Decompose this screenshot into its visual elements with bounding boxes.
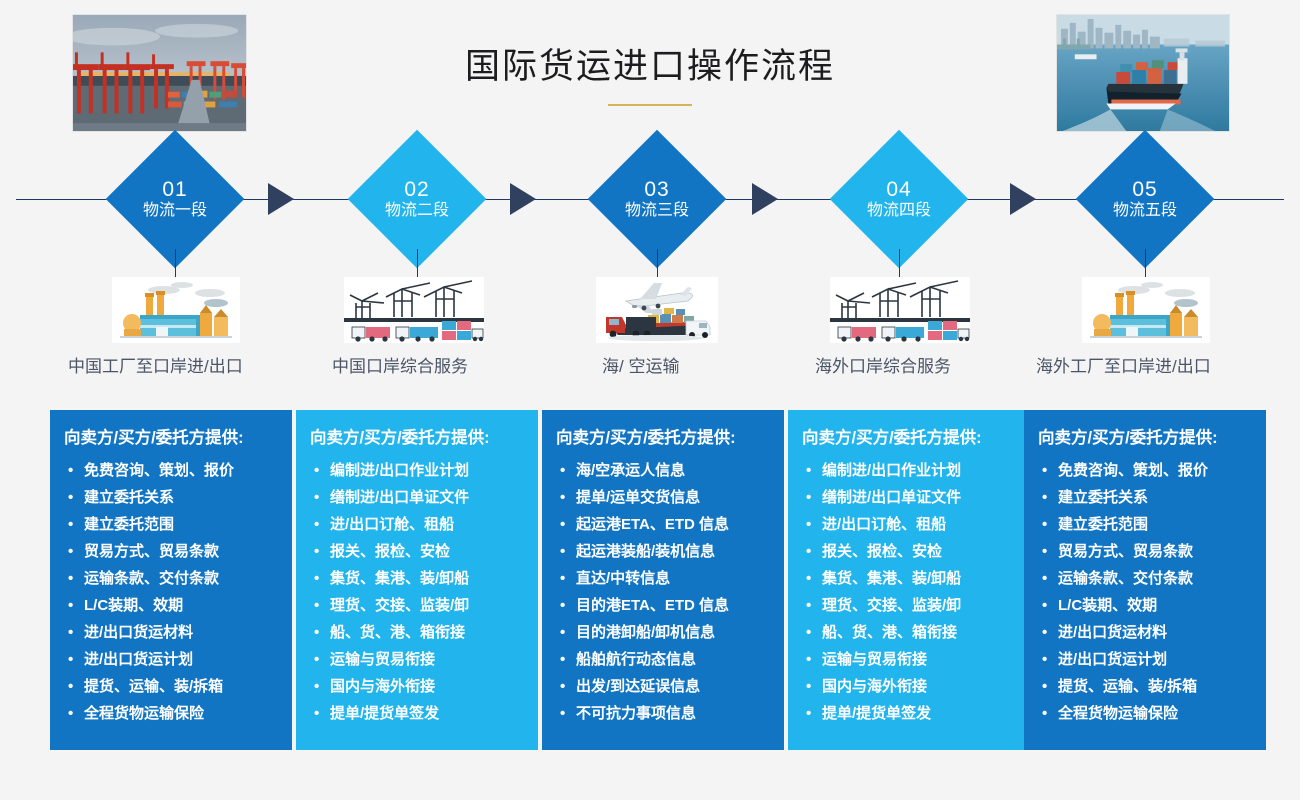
panel-title-03: 向卖方/买方/委托方提供: <box>556 424 774 448</box>
flow-arrow-2 <box>510 183 536 215</box>
list-item: 建立委托关系 <box>64 484 282 511</box>
stage-stem-05 <box>1145 249 1146 279</box>
list-item: 理货、交接、监装/卸 <box>802 592 1020 619</box>
list-item: 直达/中转信息 <box>556 565 774 592</box>
stage-panel-04: 向卖方/买方/委托方提供: 编制进/出口作业计划 缮制进/出口单证文件 进/出口… <box>788 410 1030 750</box>
list-item: 编制进/出口作业计划 <box>802 457 1020 484</box>
list-item: 运输与贸易衔接 <box>310 646 528 673</box>
list-item: 提货、运输、装/拆箱 <box>1038 673 1256 700</box>
list-item: 国内与海外衔接 <box>310 673 528 700</box>
list-item: 理货、交接、监装/卸 <box>310 592 528 619</box>
list-item: 提货、运输、装/拆箱 <box>64 673 282 700</box>
list-item: 海/空承运人信息 <box>556 457 774 484</box>
list-item: 提单/提货单签发 <box>802 700 1020 727</box>
list-item: 进/出口货运计划 <box>1038 646 1256 673</box>
list-item: 报关、报检、安检 <box>310 538 528 565</box>
list-item: 国内与海外衔接 <box>802 673 1020 700</box>
list-item: 运输条款、交付条款 <box>1038 565 1256 592</box>
stage-diamond-label-05: 05 物流五段 <box>1070 178 1220 221</box>
list-item: 全程货物运输保险 <box>64 700 282 727</box>
port-crane-truck-icon <box>344 277 484 343</box>
title-underline <box>608 104 692 106</box>
stage-caption-04: 海外口岸综合服务 <box>815 352 951 378</box>
stage-number-05: 05 <box>1070 178 1220 202</box>
panel-title-02: 向卖方/买方/委托方提供: <box>310 424 528 448</box>
factory-icon <box>1082 277 1210 343</box>
list-item: 进/出口货运材料 <box>1038 619 1256 646</box>
factory-icon <box>112 277 240 343</box>
flow-arrow-1 <box>268 183 294 215</box>
list-item: 贸易方式、贸易条款 <box>64 538 282 565</box>
list-item: 进/出口订舱、租船 <box>310 511 528 538</box>
stage-panel-01: 向卖方/买方/委托方提供: 免费咨询、策划、报价 建立委托关系 建立委托范围 贸… <box>50 410 292 750</box>
plane-truck-ship-icon <box>596 277 718 343</box>
stage-name-03: 物流三段 <box>582 202 732 220</box>
list-item: 免费咨询、策划、报价 <box>1038 457 1256 484</box>
list-item: 目的港ETA、ETD 信息 <box>556 592 774 619</box>
page-title: 国际货运进口操作流程 <box>0 38 1300 89</box>
list-item: 缮制进/出口单证文件 <box>802 484 1020 511</box>
list-item: 目的港卸船/卸机信息 <box>556 619 774 646</box>
stage-caption-05: 海外工厂至口岸进/出口 <box>1036 352 1211 378</box>
stage-diamond-label-02: 02 物流二段 <box>342 178 492 221</box>
list-item: 出发/到达延误信息 <box>556 673 774 700</box>
stage-panel-03: 向卖方/买方/委托方提供: 海/空承运人信息 提单/运单交货信息 起运港ETA、… <box>542 410 784 750</box>
list-item: 起运港装船/装机信息 <box>556 538 774 565</box>
panel-list-01: 免费咨询、策划、报价 建立委托关系 建立委托范围 贸易方式、贸易条款 运输条款、… <box>64 457 282 727</box>
panel-list-02: 编制进/出口作业计划 缮制进/出口单证文件 进/出口订舱、租船 报关、报检、安检… <box>310 457 528 727</box>
list-item: 船、货、港、箱衔接 <box>802 619 1020 646</box>
stage-number-04: 04 <box>824 178 974 202</box>
list-item: 提单/提货单签发 <box>310 700 528 727</box>
stage-stem-03 <box>657 249 658 279</box>
flow-arrow-3 <box>752 183 778 215</box>
stage-number-03: 03 <box>582 178 732 202</box>
list-item: 起运港ETA、ETD 信息 <box>556 511 774 538</box>
stage-name-05: 物流五段 <box>1070 202 1220 220</box>
list-item: 编制进/出口作业计划 <box>310 457 528 484</box>
list-item: 报关、报检、安检 <box>802 538 1020 565</box>
stage-number-01: 01 <box>100 178 250 202</box>
list-item: 运输条款、交付条款 <box>64 565 282 592</box>
stage-diamond-label-04: 04 物流四段 <box>824 178 974 221</box>
list-item: 提单/运单交货信息 <box>556 484 774 511</box>
stage-name-01: 物流一段 <box>100 202 250 220</box>
list-item: 缮制进/出口单证文件 <box>310 484 528 511</box>
stage-panel-02: 向卖方/买方/委托方提供: 编制进/出口作业计划 缮制进/出口单证文件 进/出口… <box>296 410 538 750</box>
stage-stem-04 <box>899 249 900 279</box>
stage-number-02: 02 <box>342 178 492 202</box>
stage-caption-03: 海/ 空运输 <box>602 352 679 378</box>
list-item: 进/出口货运材料 <box>64 619 282 646</box>
panel-title-04: 向卖方/买方/委托方提供: <box>802 424 1020 448</box>
panel-title-01: 向卖方/买方/委托方提供: <box>64 424 282 448</box>
stage-panel-05: 向卖方/买方/委托方提供: 免费咨询、策划、报价 建立委托关系 建立委托范围 贸… <box>1024 410 1266 750</box>
stage-name-04: 物流四段 <box>824 202 974 220</box>
panel-list-04: 编制进/出口作业计划 缮制进/出口单证文件 进/出口订舱、租船 报关、报检、安检… <box>802 457 1020 727</box>
stage-stem-02 <box>417 249 418 279</box>
list-item: L/C装期、效期 <box>64 592 282 619</box>
list-item: 船、货、港、箱衔接 <box>310 619 528 646</box>
stage-caption-02: 中国口岸综合服务 <box>332 352 468 378</box>
panel-title-05: 向卖方/买方/委托方提供: <box>1038 424 1256 448</box>
stage-stem-01 <box>175 249 176 279</box>
panel-list-03: 海/空承运人信息 提单/运单交货信息 起运港ETA、ETD 信息 起运港装船/装… <box>556 457 774 727</box>
list-item: 集货、集港、装/卸船 <box>802 565 1020 592</box>
list-item: 免费咨询、策划、报价 <box>64 457 282 484</box>
list-item: 不可抗力事项信息 <box>556 700 774 727</box>
list-item: 贸易方式、贸易条款 <box>1038 538 1256 565</box>
stage-name-02: 物流二段 <box>342 202 492 220</box>
list-item: 进/出口货运计划 <box>64 646 282 673</box>
list-item: 进/出口订舱、租船 <box>802 511 1020 538</box>
flow-arrow-4 <box>1010 183 1036 215</box>
infographic-canvas: 国际货运进口操作流程 01 物流一段 <box>0 0 1300 800</box>
port-crane-truck-icon <box>830 277 970 343</box>
stage-caption-01: 中国工厂至口岸进/出口 <box>68 352 243 378</box>
list-item: 全程货物运输保险 <box>1038 700 1256 727</box>
list-item: 运输与贸易衔接 <box>802 646 1020 673</box>
list-item: 集货、集港、装/卸船 <box>310 565 528 592</box>
list-item: 建立委托关系 <box>1038 484 1256 511</box>
panel-list-05: 免费咨询、策划、报价 建立委托关系 建立委托范围 贸易方式、贸易条款 运输条款、… <box>1038 457 1256 727</box>
list-item: L/C装期、效期 <box>1038 592 1256 619</box>
list-item: 建立委托范围 <box>64 511 282 538</box>
stage-diamond-label-03: 03 物流三段 <box>582 178 732 221</box>
list-item: 建立委托范围 <box>1038 511 1256 538</box>
list-item: 船舶航行动态信息 <box>556 646 774 673</box>
stage-diamond-label-01: 01 物流一段 <box>100 178 250 221</box>
